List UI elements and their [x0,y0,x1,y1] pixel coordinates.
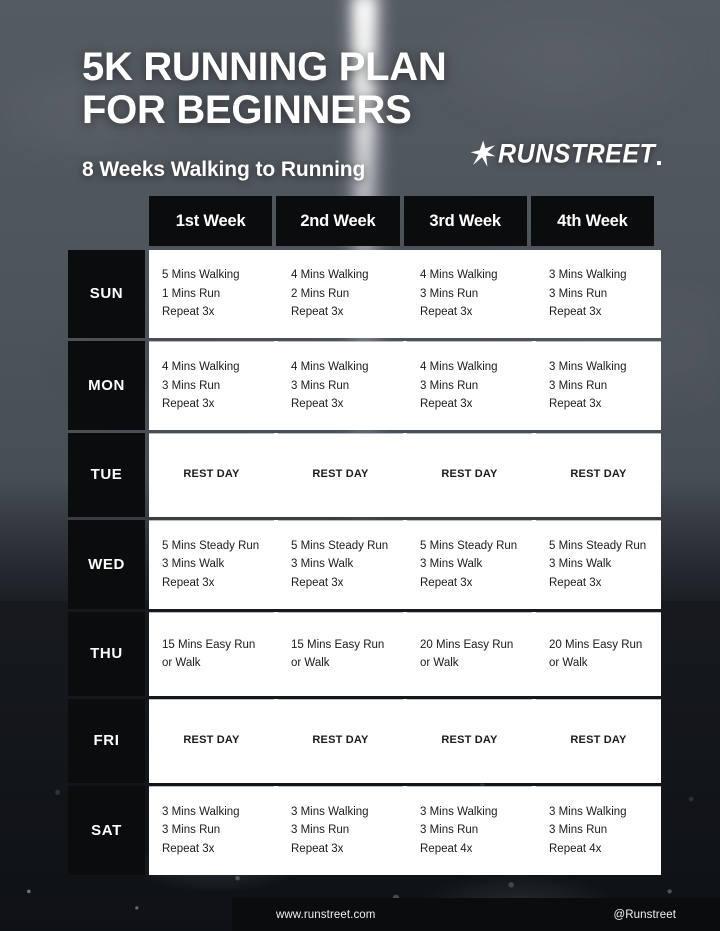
logo-dot [657,161,661,165]
cell-line: 4 Mins Walking [291,358,403,377]
cell-line: Repeat 3x [162,303,274,322]
plan-row: MON4 Mins Walking3 Mins RunRepeat 3x4 Mi… [68,341,654,430]
cell-line: 3 Mins Run [549,285,661,304]
plan-row: FRIREST DAYREST DAYREST DAYREST DAY [68,699,654,783]
footer-handle[interactable]: @Runstreet [613,909,676,921]
week-cells: 5 Mins Steady Run3 Mins WalkRepeat 3x5 M… [149,520,661,609]
cell-line: 3 Mins Walking [549,803,661,822]
cell-line: 4 Mins Walking [162,358,274,377]
workout-cell: 20 Mins Easy Runor Walk [536,612,661,696]
day-label-wed: WED [68,520,145,609]
workout-cell: 15 Mins Easy Runor Walk [278,612,403,696]
cell-line: 3 Mins Walking [549,266,661,285]
workout-cell: 5 Mins Walking1 Mins RunRepeat 3x [149,250,274,338]
cell-line: 3 Mins Walk [420,555,532,574]
cell-line: 3 Mins Run [420,821,532,840]
workout-cell: 3 Mins Walking3 Mins RunRepeat 3x [536,341,661,430]
cell-line: Repeat 3x [420,574,532,593]
rest-day-cell: REST DAY [407,433,532,517]
cell-line: 3 Mins Run [549,821,661,840]
week-cells: 3 Mins Walking3 Mins RunRepeat 3x3 Mins … [149,786,661,875]
cell-line: REST DAY [312,732,368,750]
rest-day-cell: REST DAY [278,699,403,783]
cell-line: Repeat 3x [291,840,403,859]
week-cells: 5 Mins Walking1 Mins RunRepeat 3x4 Mins … [149,250,661,338]
workout-cell: 4 Mins Walking2 Mins RunRepeat 3x [278,250,403,338]
plan-row: SAT3 Mins Walking3 Mins RunRepeat 3x3 Mi… [68,786,654,875]
cell-line: 15 Mins Easy Run [162,636,274,655]
cell-line: or Walk [291,654,403,673]
cell-line: 3 Mins Walking [549,358,661,377]
cell-line: or Walk [549,654,661,673]
cell-line: 20 Mins Easy Run [549,636,661,655]
cell-line: Repeat 3x [549,574,661,593]
cell-line: 4 Mins Walking [420,358,532,377]
rest-day-cell: REST DAY [149,699,274,783]
cell-line: REST DAY [312,466,368,484]
workout-cell: 3 Mins Walking3 Mins RunRepeat 3x [536,250,661,338]
cell-line: or Walk [162,654,274,673]
cell-line: Repeat 3x [291,574,403,593]
workout-cell: 20 Mins Easy Runor Walk [407,612,532,696]
cell-line: Repeat 3x [162,840,274,859]
cell-line: 3 Mins Run [549,377,661,396]
cell-line: 3 Mins Run [291,377,403,396]
week-cells: REST DAYREST DAYREST DAYREST DAY [149,433,661,517]
plan-row: TUEREST DAYREST DAYREST DAYREST DAY [68,433,654,517]
poster-canvas: 5K RUNNING PLAN FOR BEGINNERS 8 Weeks Wa… [0,0,720,931]
plan-row: SUN5 Mins Walking1 Mins RunRepeat 3x4 Mi… [68,250,654,338]
workout-cell: 4 Mins Walking3 Mins RunRepeat 3x [278,341,403,430]
cell-line: 3 Mins Run [291,821,403,840]
workout-cell: 5 Mins Steady Run3 Mins WalkRepeat 3x [149,520,274,609]
cell-line: Repeat 3x [420,395,532,414]
workout-cell: 3 Mins Walking3 Mins RunRepeat 4x [407,786,532,875]
plan-row: WED5 Mins Steady Run3 Mins WalkRepeat 3x… [68,520,654,609]
week-header-2: 2nd Week [276,196,399,246]
day-label-sat: SAT [68,786,145,875]
logo-wordmark: RUNSTREET [498,141,655,168]
poster-header: 5K RUNNING PLAN FOR BEGINNERS 8 Weeks Wa… [82,46,446,182]
week-cells: 15 Mins Easy Runor Walk15 Mins Easy Runo… [149,612,661,696]
cell-line: REST DAY [441,466,497,484]
workout-cell: 4 Mins Walking3 Mins RunRepeat 3x [407,250,532,338]
cell-line: or Walk [420,654,532,673]
cell-line: 5 Mins Steady Run [549,537,661,556]
cell-line: Repeat 4x [420,840,532,859]
workout-cell: 5 Mins Steady Run3 Mins WalkRepeat 3x [536,520,661,609]
training-plan-table: 1st Week2nd Week3rd Week4th Week SUN5 Mi… [68,196,654,878]
cell-line: Repeat 4x [549,840,661,859]
workout-cell: 5 Mins Steady Run3 Mins WalkRepeat 3x [278,520,403,609]
cell-line: REST DAY [183,466,239,484]
rest-day-cell: REST DAY [536,433,661,517]
workout-cell: 3 Mins Walking3 Mins RunRepeat 3x [278,786,403,875]
star-runner-icon [470,140,496,168]
workout-cell: 15 Mins Easy Runor Walk [149,612,274,696]
cell-line: 5 Mins Steady Run [291,537,403,556]
cell-line: 5 Mins Steady Run [420,537,532,556]
week-cells: REST DAYREST DAYREST DAYREST DAY [149,699,661,783]
day-label-tue: TUE [68,433,145,517]
cell-line: 3 Mins Run [420,285,532,304]
cell-line: Repeat 3x [291,303,403,322]
week-header-3: 3rd Week [404,196,527,246]
cell-line: 3 Mins Run [162,821,274,840]
workout-cell: 4 Mins Walking3 Mins RunRepeat 3x [149,341,274,430]
cell-line: REST DAY [441,732,497,750]
day-label-fri: FRI [68,699,145,783]
week-header-4: 4th Week [531,196,654,246]
cell-line: 3 Mins Walking [162,803,274,822]
cell-line: 15 Mins Easy Run [291,636,403,655]
cell-line: 4 Mins Walking [420,266,532,285]
cell-line: 5 Mins Walking [162,266,274,285]
cell-line: REST DAY [570,732,626,750]
cell-line: 3 Mins Walk [549,555,661,574]
page-title: 5K RUNNING PLAN FOR BEGINNERS [82,46,446,132]
rest-day-cell: REST DAY [536,699,661,783]
workout-cell: 3 Mins Walking3 Mins RunRepeat 4x [536,786,661,875]
cell-line: Repeat 3x [420,303,532,322]
footer-website[interactable]: www.runstreet.com [276,909,375,921]
cell-line: Repeat 3x [162,395,274,414]
cell-line: Repeat 3x [291,395,403,414]
workout-cell: 4 Mins Walking3 Mins RunRepeat 3x [407,341,532,430]
day-label-sun: SUN [68,250,145,338]
week-cells: 4 Mins Walking3 Mins RunRepeat 3x4 Mins … [149,341,661,430]
plan-row: THU15 Mins Easy Runor Walk15 Mins Easy R… [68,612,654,696]
runstreet-logo: RUNSTREET [470,140,661,168]
footer-bar: www.runstreet.com @Runstreet [232,898,720,931]
cell-line: REST DAY [570,466,626,484]
cell-line: Repeat 3x [549,303,661,322]
workout-cell: 3 Mins Walking3 Mins RunRepeat 3x [149,786,274,875]
plan-body: SUN5 Mins Walking1 Mins RunRepeat 3x4 Mi… [68,250,654,875]
cell-line: 3 Mins Walk [162,555,274,574]
cell-line: 2 Mins Run [291,285,403,304]
cell-line: 3 Mins Walking [291,803,403,822]
workout-cell: 5 Mins Steady Run3 Mins WalkRepeat 3x [407,520,532,609]
day-label-thu: THU [68,612,145,696]
cell-line: 3 Mins Run [162,377,274,396]
rest-day-cell: REST DAY [278,433,403,517]
cell-line: 4 Mins Walking [291,266,403,285]
cell-line: 20 Mins Easy Run [420,636,532,655]
cell-line: 3 Mins Walk [291,555,403,574]
cell-line: REST DAY [183,732,239,750]
cell-line: 3 Mins Walking [420,803,532,822]
cell-line: 3 Mins Run [420,377,532,396]
cell-line: 1 Mins Run [162,285,274,304]
cell-line: Repeat 3x [162,574,274,593]
week-header-1: 1st Week [149,196,272,246]
day-label-mon: MON [68,341,145,430]
week-header-row: 1st Week2nd Week3rd Week4th Week [149,196,654,246]
rest-day-cell: REST DAY [149,433,274,517]
page-subtitle: 8 Weeks Walking to Running [82,158,446,182]
cell-line: Repeat 3x [549,395,661,414]
rest-day-cell: REST DAY [407,699,532,783]
cell-line: 5 Mins Steady Run [162,537,274,556]
